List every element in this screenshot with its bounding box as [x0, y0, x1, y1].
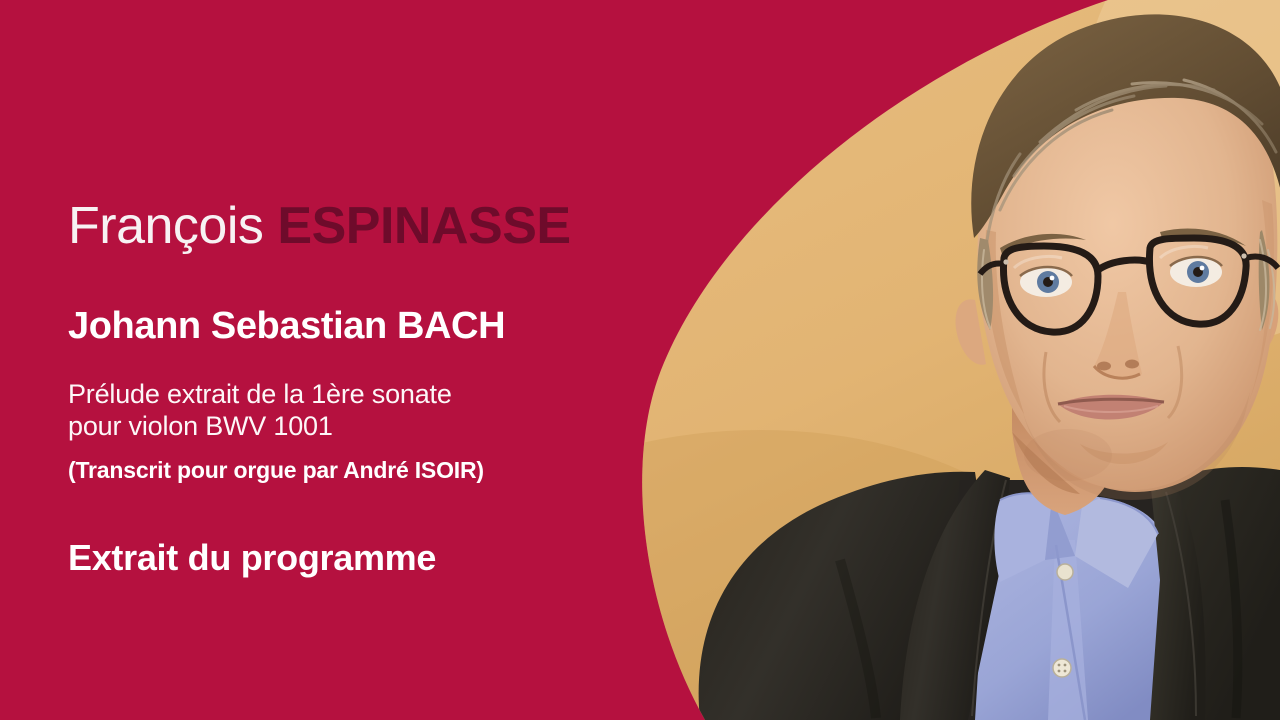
- excerpt-label: Extrait du programme: [68, 536, 436, 580]
- composer-name: Johann Sebastian BACH: [68, 303, 505, 349]
- artist-last-name: ESPINASSE: [277, 197, 570, 255]
- title-card: FrançoisESPINASSE Johann Sebastian BACH …: [0, 0, 1280, 720]
- work-title: Prélude extrait de la 1ère sonate pour v…: [68, 378, 452, 442]
- artist-first-name: François: [68, 197, 263, 255]
- artist-name: FrançoisESPINASSE: [68, 196, 571, 256]
- shirt-button-top: [1057, 564, 1073, 580]
- text-block: FrançoisESPINASSE Johann Sebastian BACH …: [68, 0, 668, 720]
- work-title-line-2: pour violon BWV 1001: [68, 410, 452, 442]
- work-title-line-1: Prélude extrait de la 1ère sonate: [68, 379, 452, 409]
- arranger-note: (Transcrit pour orgue par André ISOIR): [68, 456, 484, 484]
- portrait-photo: [0, 0, 1280, 720]
- portrait-photo-panel: [0, 0, 1280, 720]
- shirt-button-lower: [1053, 659, 1071, 677]
